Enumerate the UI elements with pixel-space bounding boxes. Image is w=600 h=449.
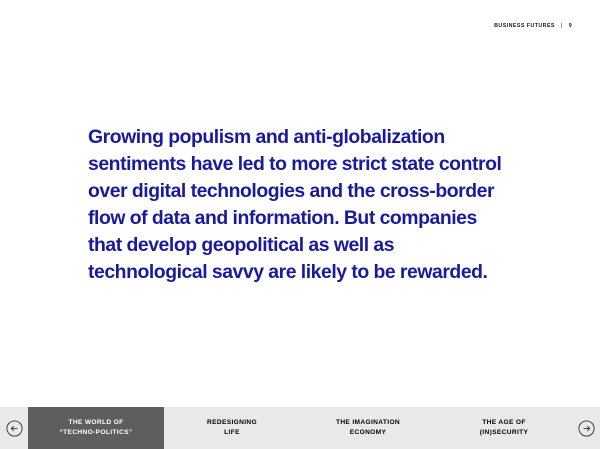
arrow-left-circle-icon (6, 420, 23, 437)
slide-content: Growing populism and anti-globalization … (0, 56, 600, 407)
tab-label-line1: REDESIGNING (207, 418, 257, 428)
bottom-navigation-bar: THE WORLD OF “TECHNO-POLITICS” REDESIGNI… (0, 407, 600, 449)
header-meta: BUSINESS FUTURES | 9 (494, 23, 572, 29)
page-number: 9 (569, 23, 572, 29)
tab-the-world-of-techno-politics[interactable]: THE WORLD OF “TECHNO-POLITICS” (28, 407, 164, 449)
tab-label-line1: THE IMAGINATION (336, 418, 400, 428)
tab-label-line2: “TECHNO-POLITICS” (60, 428, 133, 438)
next-slide-button[interactable] (572, 407, 600, 449)
tab-label-line2: LIFE (224, 428, 240, 438)
previous-slide-button[interactable] (0, 407, 28, 449)
tab-label-line2: ECONOMY (350, 428, 387, 438)
tab-label-line2: (IN)SECURITY (480, 428, 529, 438)
headline-text: Growing populism and anti-globalization … (88, 56, 513, 286)
publication-title: BUSINESS FUTURES (494, 23, 555, 29)
arrow-right-circle-icon (578, 420, 595, 437)
page-header: BUSINESS FUTURES | 9 (0, 0, 600, 56)
chapter-tabs: THE WORLD OF “TECHNO-POLITICS” REDESIGNI… (28, 407, 572, 449)
tab-redesigning-life[interactable]: REDESIGNING LIFE (164, 407, 300, 449)
tab-the-age-of-insecurity[interactable]: THE AGE OF (IN)SECURITY (436, 407, 572, 449)
tab-label-line1: THE AGE OF (482, 418, 526, 428)
tab-the-imagination-economy[interactable]: THE IMAGINATION ECONOMY (300, 407, 436, 449)
header-separator: | (560, 23, 564, 29)
tab-label-line1: THE WORLD OF (68, 418, 123, 428)
